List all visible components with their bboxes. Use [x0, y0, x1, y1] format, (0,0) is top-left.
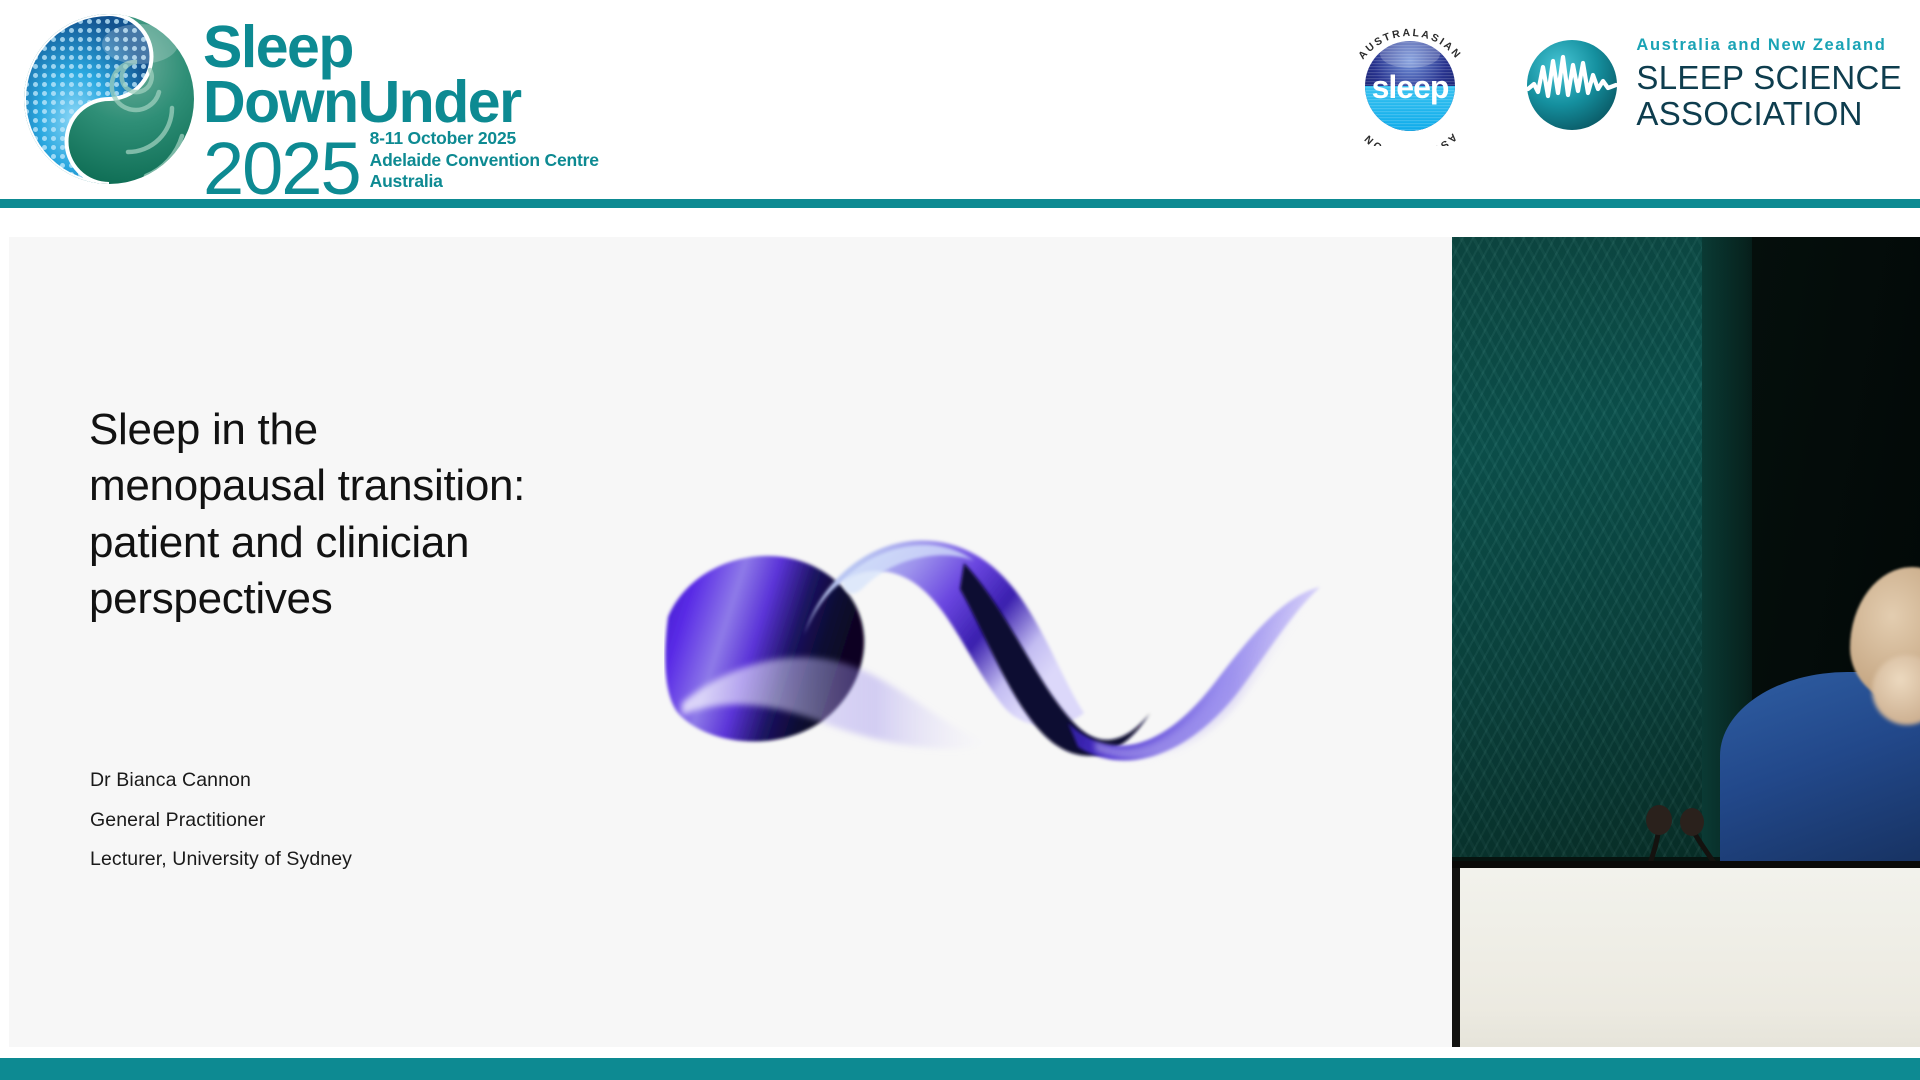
svg-text:ASSOCIATION: ASSOCIATION: [1361, 131, 1459, 146]
presentation-slide[interactable]: Sleep in the menopausal transition: pati…: [9, 237, 1452, 1047]
slide-byline: Dr Bianca Cannon General Practitioner Le…: [90, 771, 610, 870]
presenter-role: General Practitioner: [90, 811, 610, 831]
anzssa-line-2: SLEEP SCIENCE: [1636, 60, 1902, 96]
slide-title: Sleep in the menopausal transition: pati…: [89, 402, 559, 627]
anzssa-line-1: Australia and New Zealand: [1636, 37, 1902, 54]
sleep-down-under-yinyang-icon: [22, 8, 197, 190]
conference-meta: 8-11 October 2025 Adelaide Convention Ce…: [370, 128, 599, 192]
asa-arc-bottom: ASSOCIATION: [1361, 131, 1459, 146]
presentation-viewer: Sleep DownUnder 2025 8-11 October 2025 A…: [0, 0, 1920, 1080]
anzssa-wordmark: Australia and New Zealand SLEEP SCIENCE …: [1636, 37, 1902, 132]
anzssa-eeg-globe-icon: [1522, 35, 1622, 135]
lectern: [1452, 861, 1920, 1047]
presenter-affiliation: Lecturer, University of Sydney: [90, 850, 610, 870]
page-header: Sleep DownUnder 2025 8-11 October 2025 A…: [0, 0, 1920, 200]
partner-logos: AUSTRALASIAN ASSOCIATION sleep: [1330, 24, 1902, 146]
anzssa-line-3: ASSOCIATION: [1636, 96, 1902, 132]
logo-line-downunder: DownUnder: [203, 74, 599, 130]
asa-wordmark: sleep: [1372, 69, 1449, 105]
australasian-sleep-association-logo: AUSTRALASIAN ASSOCIATION sleep: [1330, 24, 1480, 146]
stage-area: Sleep in the menopausal transition: pati…: [0, 208, 1920, 1034]
anzssa-logo: Australia and New Zealand SLEEP SCIENCE …: [1522, 35, 1902, 135]
logo-year: 2025: [203, 139, 360, 200]
logo-line-sleep: Sleep: [203, 20, 599, 74]
purple-ribbon-wave-icon: [664, 517, 1324, 767]
sleep-down-under-logo: Sleep DownUnder 2025 8-11 October 2025 A…: [22, 6, 599, 199]
header-divider: [0, 199, 1920, 208]
conference-country: Australia: [370, 171, 599, 192]
speaker-video-feed[interactable]: [1452, 237, 1920, 1047]
conference-venue: Adelaide Convention Centre: [370, 150, 599, 171]
footer-divider: [0, 1058, 1920, 1080]
sleep-down-under-wordmark: Sleep DownUnder 2025 8-11 October 2025 A…: [203, 20, 599, 199]
conference-dates: 8-11 October 2025: [370, 128, 599, 149]
presenter-name: Dr Bianca Cannon: [90, 771, 610, 791]
